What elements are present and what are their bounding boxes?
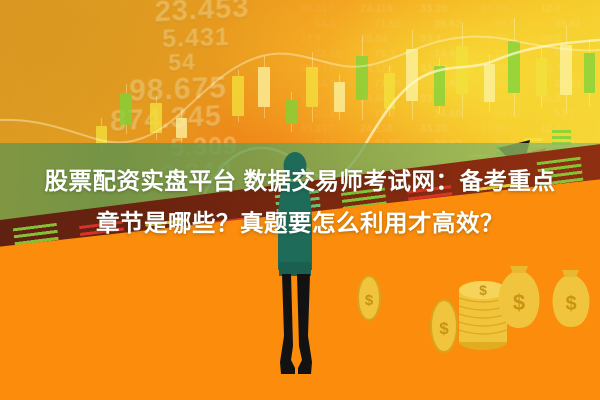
headline-line-1: 股票配资实盘平台 数据交易师考试网：备考重点 bbox=[8, 160, 592, 202]
headline-line-2: 章节是哪些？真题要怎么利用才高效？ bbox=[8, 202, 592, 244]
banner-image: 65.31724.11833.2041.0912.784.371.5509.62… bbox=[0, 0, 600, 400]
headline-text: 股票配资实盘平台 数据交易师考试网：备考重点 章节是哪些？真题要怎么利用才高效？ bbox=[0, 160, 600, 244]
